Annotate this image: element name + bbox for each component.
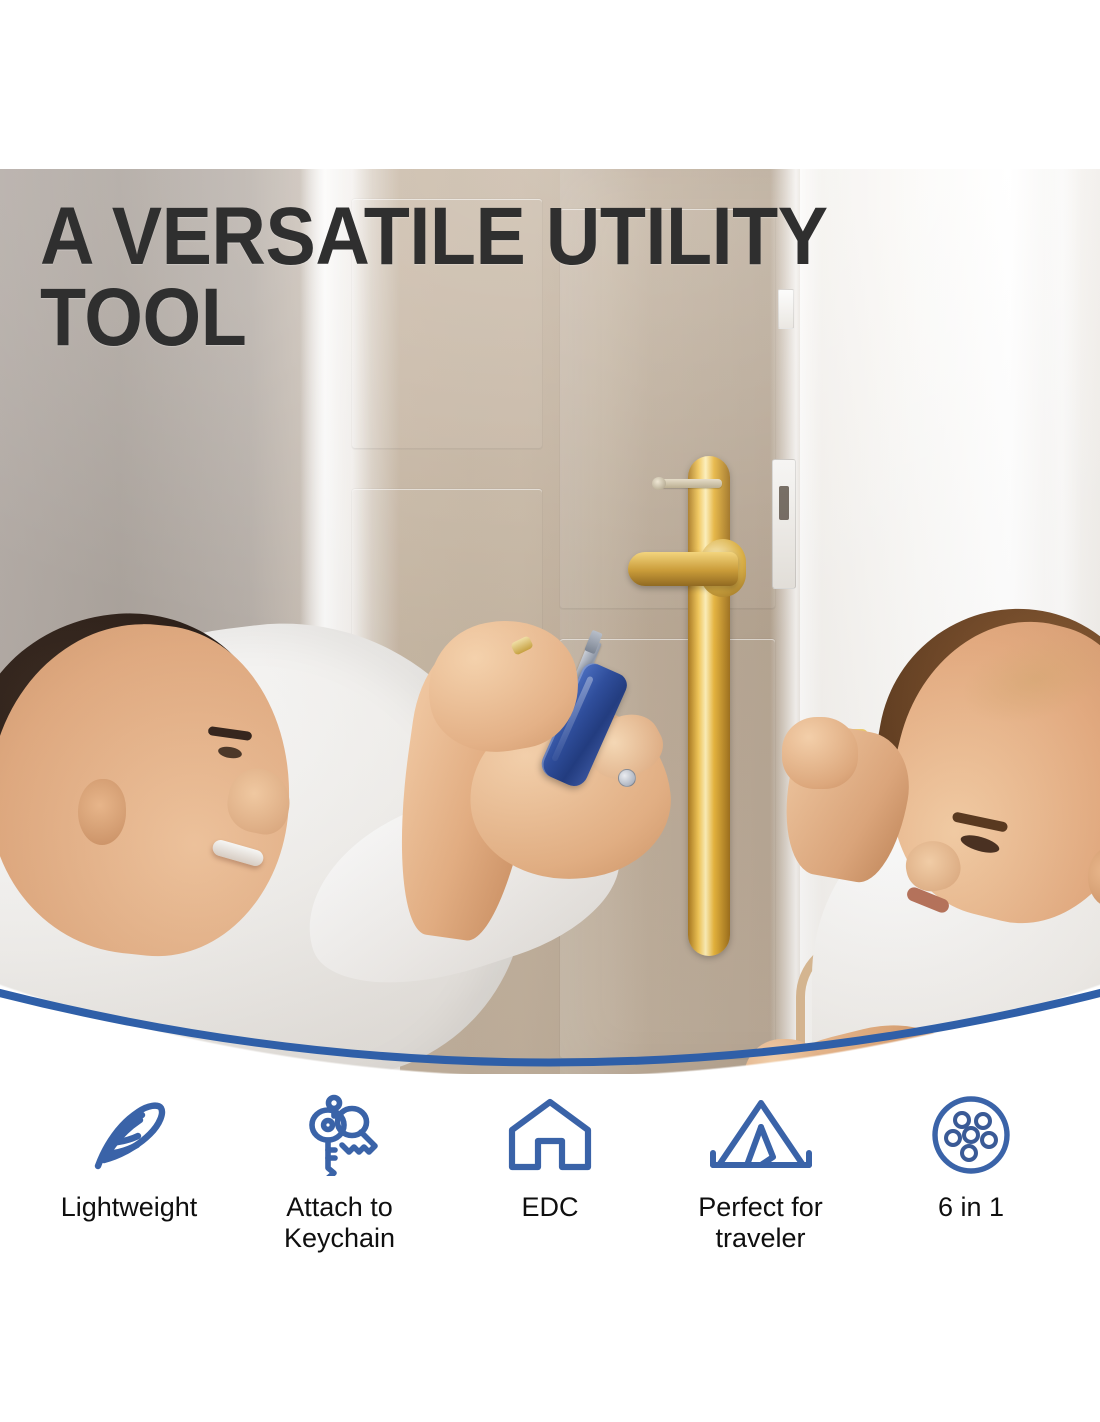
feature-label-line-2: traveler: [715, 1223, 805, 1253]
headline-line-2: TOOL: [40, 277, 923, 358]
product-infographic: A VERSATILE UTILITY TOOL Lightweight: [0, 0, 1100, 1422]
feature-label: Perfect for traveler: [698, 1192, 823, 1254]
feature-label: Lightweight: [61, 1192, 198, 1223]
boy-hand-upper: [782, 717, 858, 789]
feature-label: EDC: [521, 1192, 578, 1223]
feature-label: 6 in 1: [938, 1192, 1004, 1223]
handle-screw: [660, 479, 722, 488]
feature-label-line-1: Attach to: [286, 1192, 393, 1222]
man-ear: [78, 779, 126, 845]
feature-label-line-2: Keychain: [284, 1223, 395, 1253]
feature-six-in-one[interactable]: 6 in 1: [876, 1092, 1066, 1223]
feature-label-line-1: Perfect for: [698, 1192, 823, 1222]
door-strike-plate: [772, 459, 796, 589]
feature-label: Attach to Keychain: [284, 1192, 395, 1254]
six-dots-circle-icon: [931, 1092, 1011, 1178]
door-handle-backplate: [688, 456, 730, 956]
feature-perfect-for-traveler[interactable]: Perfect for traveler: [666, 1092, 856, 1254]
feature-lightweight[interactable]: Lightweight: [34, 1092, 224, 1223]
multitool-pivot-rivet: [618, 769, 636, 787]
feather-icon: [90, 1092, 168, 1178]
feature-row: Lightweight: [0, 1092, 1100, 1254]
headline-line-1: A VERSATILE UTILITY: [40, 196, 923, 277]
house-icon: [507, 1092, 593, 1178]
tent-icon: [709, 1092, 813, 1178]
page-title: A VERSATILE UTILITY TOOL: [40, 196, 923, 358]
feature-edc[interactable]: EDC: [455, 1092, 645, 1223]
keys-icon: [298, 1092, 382, 1178]
door-handle-lever: [628, 552, 738, 586]
feature-attach-to-keychain[interactable]: Attach to Keychain: [245, 1092, 435, 1254]
